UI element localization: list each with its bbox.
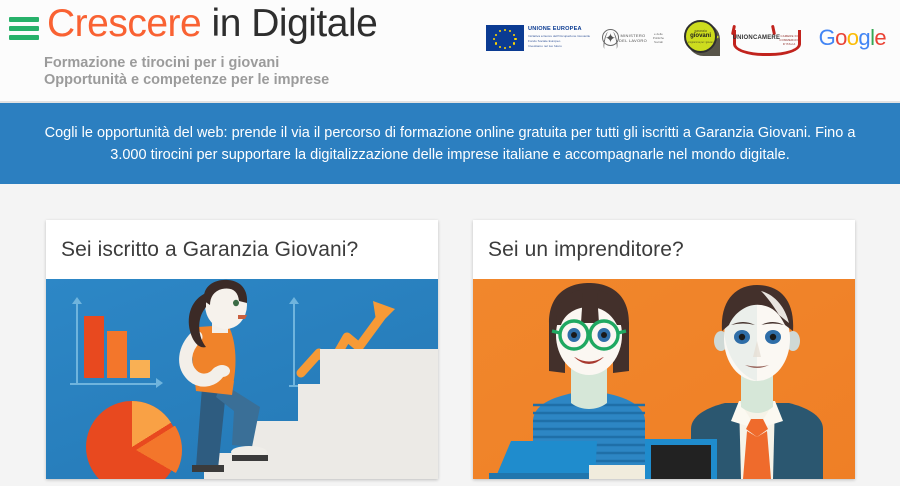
- gg-logo-bottom: programma per i giovani: [686, 41, 716, 44]
- eu-logo: UNIONE EUROPEA Iniziativa a favore dell'…: [486, 25, 590, 51]
- eu-logo-title: UNIONE EUROPEA: [528, 26, 590, 33]
- unioncamere-bowl-icon: UNIONCAMERE: [733, 28, 774, 52]
- card-garanzia-giovani-image: [46, 279, 438, 479]
- google-letter-o1: o: [835, 25, 847, 51]
- cards-section: Sei iscritto a Garanzia Giovani?: [0, 184, 900, 484]
- hamburger-bar-3: [9, 35, 39, 40]
- eu-flag-icon: [486, 25, 524, 51]
- ministero-logo-line2: e delle Politiche Sociali: [649, 32, 667, 44]
- card-imprenditore-title: Sei un imprenditore?: [473, 220, 855, 279]
- eu-logo-sub1: Iniziativa a favore dell'Occupazione Gio…: [528, 34, 590, 38]
- partner-logos: UNIONE EUROPEA Iniziativa a favore dell'…: [486, 14, 886, 62]
- eu-logo-sub2: Fondo Sociale Europeo: [528, 39, 590, 43]
- hamburger-menu-icon[interactable]: [9, 17, 39, 40]
- hamburger-bar-2: [9, 26, 39, 31]
- ministero-logo-line1: MINISTERO DEL LAVORO: [617, 33, 650, 43]
- gg-logo-main: giovani: [687, 33, 715, 40]
- site-logo-text[interactable]: Crescere in Digitale: [47, 2, 377, 46]
- card-imprenditore[interactable]: Sei un imprenditore?: [473, 220, 855, 479]
- tagline-line-1: Formazione e tirocini per i giovani: [44, 55, 329, 72]
- google-letter-o2: o: [847, 25, 859, 51]
- ministero-del-lavoro-logo: ✦ MINISTERO DEL LAVORO e delle Politiche…: [604, 26, 667, 51]
- unioncamere-logo-title: UNIONCAMERE: [733, 35, 774, 41]
- italy-emblem-icon: ✦: [604, 26, 617, 50]
- promo-banner: Cogli le opportunità del web: prende il …: [0, 103, 900, 184]
- hamburger-bar-1: [9, 17, 39, 22]
- google-letter-g2: g: [858, 25, 870, 51]
- google-letter-e: e: [874, 25, 886, 51]
- google-letter-g1: G: [819, 25, 836, 51]
- eu-logo-sub3: Investiamo nel tuo futuro: [528, 44, 590, 48]
- garanzia-giovani-logo: garanzia giovani programma per i giovani: [682, 18, 719, 58]
- two-entrepreneurs-figure-icon: [473, 279, 855, 479]
- card-imprenditore-image: [473, 279, 855, 479]
- card-garanzia-giovani-title: Sei iscritto a Garanzia Giovani?: [46, 220, 438, 279]
- unioncamere-logo: UNIONCAMERE CAMERE DI COMMERCIO D'ITALIA: [733, 24, 805, 52]
- brand-name-primary: Crescere: [47, 2, 201, 45]
- site-tagline: Formazione e tirocini per i giovani Oppo…: [44, 55, 329, 89]
- site-header: Crescere in Digitale Formazione e tiroci…: [0, 0, 900, 103]
- google-logo: Google: [819, 25, 886, 51]
- tagline-line-2: Opportunità e competenze per le imprese: [44, 72, 329, 89]
- brand-name-secondary: in Digitale: [201, 2, 377, 45]
- promo-banner-text: Cogli le opportunità del web: prende il …: [42, 122, 858, 166]
- card-garanzia-giovani[interactable]: Sei iscritto a Garanzia Giovani?: [46, 220, 438, 479]
- woman-climbing-figure-icon: [46, 279, 438, 479]
